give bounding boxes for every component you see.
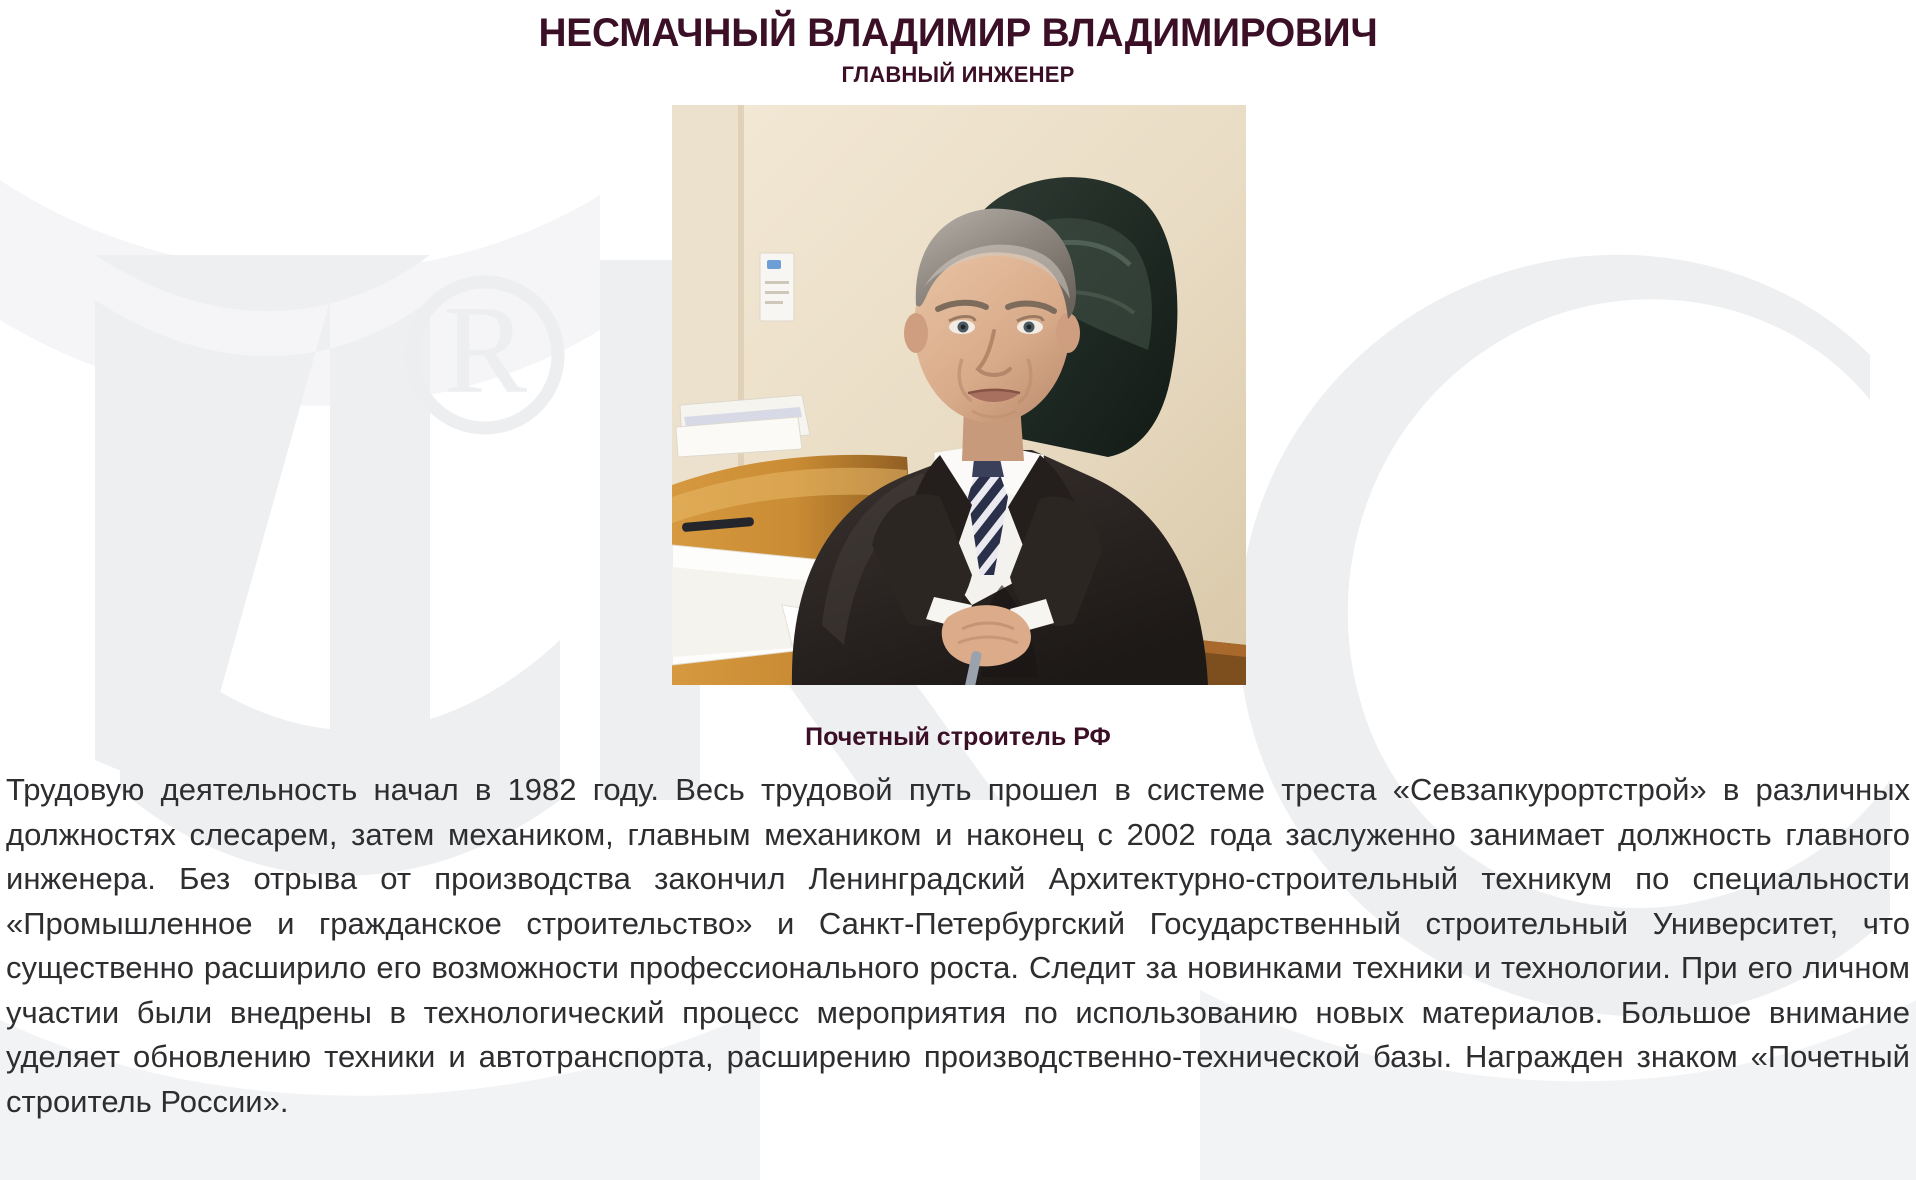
page-title: НЕСМАЧНЫЙ ВЛАДИМИР ВЛАДИМИРОВИЧ bbox=[29, 0, 1888, 55]
portrait-photo bbox=[672, 105, 1246, 685]
header-block: НЕСМАЧНЫЙ ВЛАДИМИР ВЛАДИМИРОВИЧ ГЛАВНЫЙ … bbox=[0, 0, 1916, 87]
profile-page: НЕСМАЧНЫЙ ВЛАДИМИР ВЛАДИМИРОВИЧ ГЛАВНЫЙ … bbox=[0, 0, 1916, 1180]
biography-text: Трудовую деятельность начал в 1982 году.… bbox=[0, 768, 1916, 1124]
biography-paragraph: Трудовую деятельность начал в 1982 году.… bbox=[6, 768, 1910, 1124]
person-position-subtitle: ГЛАВНЫЙ ИНЖЕНЕР bbox=[0, 55, 1916, 87]
award-caption: Почетный строитель РФ bbox=[0, 723, 1916, 751]
portrait-photo-image bbox=[672, 105, 1246, 685]
